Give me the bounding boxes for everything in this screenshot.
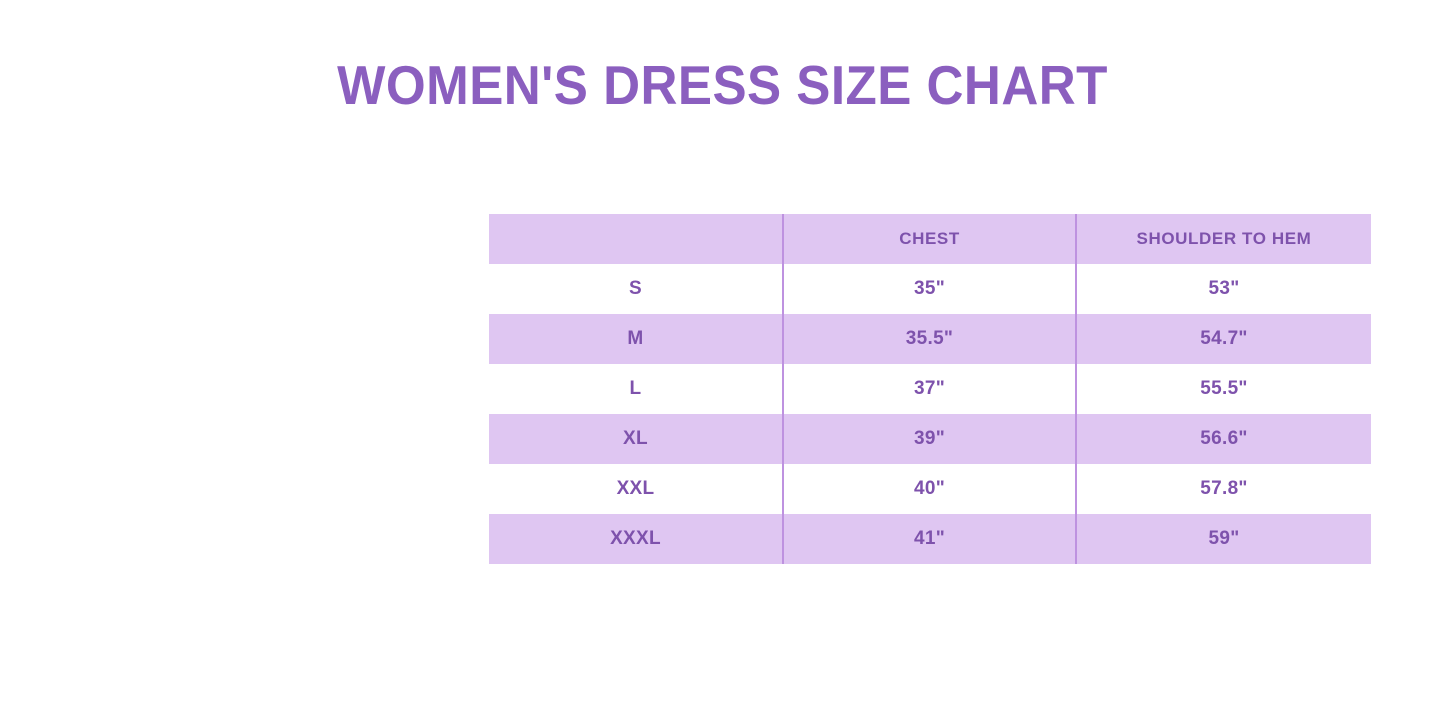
page-title: WOMEN'S DRESS SIZE CHART: [51, 56, 1395, 114]
cell-size: XXL: [489, 464, 783, 514]
size-chart-table: CHEST SHOULDER TO HEM S 35" 53" M 35.5" …: [489, 214, 1371, 564]
table-row: XL 39" 56.6": [489, 414, 1371, 464]
cell-size: XL: [489, 414, 783, 464]
cell-shoulder-to-hem: 57.8": [1076, 464, 1371, 514]
cell-chest: 35.5": [783, 314, 1076, 364]
cell-chest: 35": [783, 264, 1076, 314]
cell-size: M: [489, 314, 783, 364]
table-row: L 37" 55.5": [489, 364, 1371, 414]
column-header-size: [489, 214, 783, 264]
cell-shoulder-to-hem: 56.6": [1076, 414, 1371, 464]
table-header: CHEST SHOULDER TO HEM: [489, 214, 1371, 264]
cell-chest: 41": [783, 514, 1076, 564]
table-row: XXXL 41" 59": [489, 514, 1371, 564]
column-header-shoulder-to-hem: SHOULDER TO HEM: [1076, 214, 1371, 264]
cell-shoulder-to-hem: 55.5": [1076, 364, 1371, 414]
cell-size: L: [489, 364, 783, 414]
cell-chest: 40": [783, 464, 1076, 514]
table-body: S 35" 53" M 35.5" 54.7" L 37" 55.5" XL 3…: [489, 264, 1371, 564]
table-header-row: CHEST SHOULDER TO HEM: [489, 214, 1371, 264]
table-row: M 35.5" 54.7": [489, 314, 1371, 364]
cell-shoulder-to-hem: 54.7": [1076, 314, 1371, 364]
table-row: S 35" 53": [489, 264, 1371, 314]
cell-shoulder-to-hem: 53": [1076, 264, 1371, 314]
cell-chest: 37": [783, 364, 1076, 414]
table-row: XXL 40" 57.8": [489, 464, 1371, 514]
size-chart-table-container: CHEST SHOULDER TO HEM S 35" 53" M 35.5" …: [489, 214, 1371, 564]
cell-size: S: [489, 264, 783, 314]
cell-shoulder-to-hem: 59": [1076, 514, 1371, 564]
cell-size: XXXL: [489, 514, 783, 564]
cell-chest: 39": [783, 414, 1076, 464]
size-chart-page: WOMEN'S DRESS SIZE CHART CHEST SHOULDER …: [0, 0, 1445, 723]
column-header-chest: CHEST: [783, 214, 1076, 264]
